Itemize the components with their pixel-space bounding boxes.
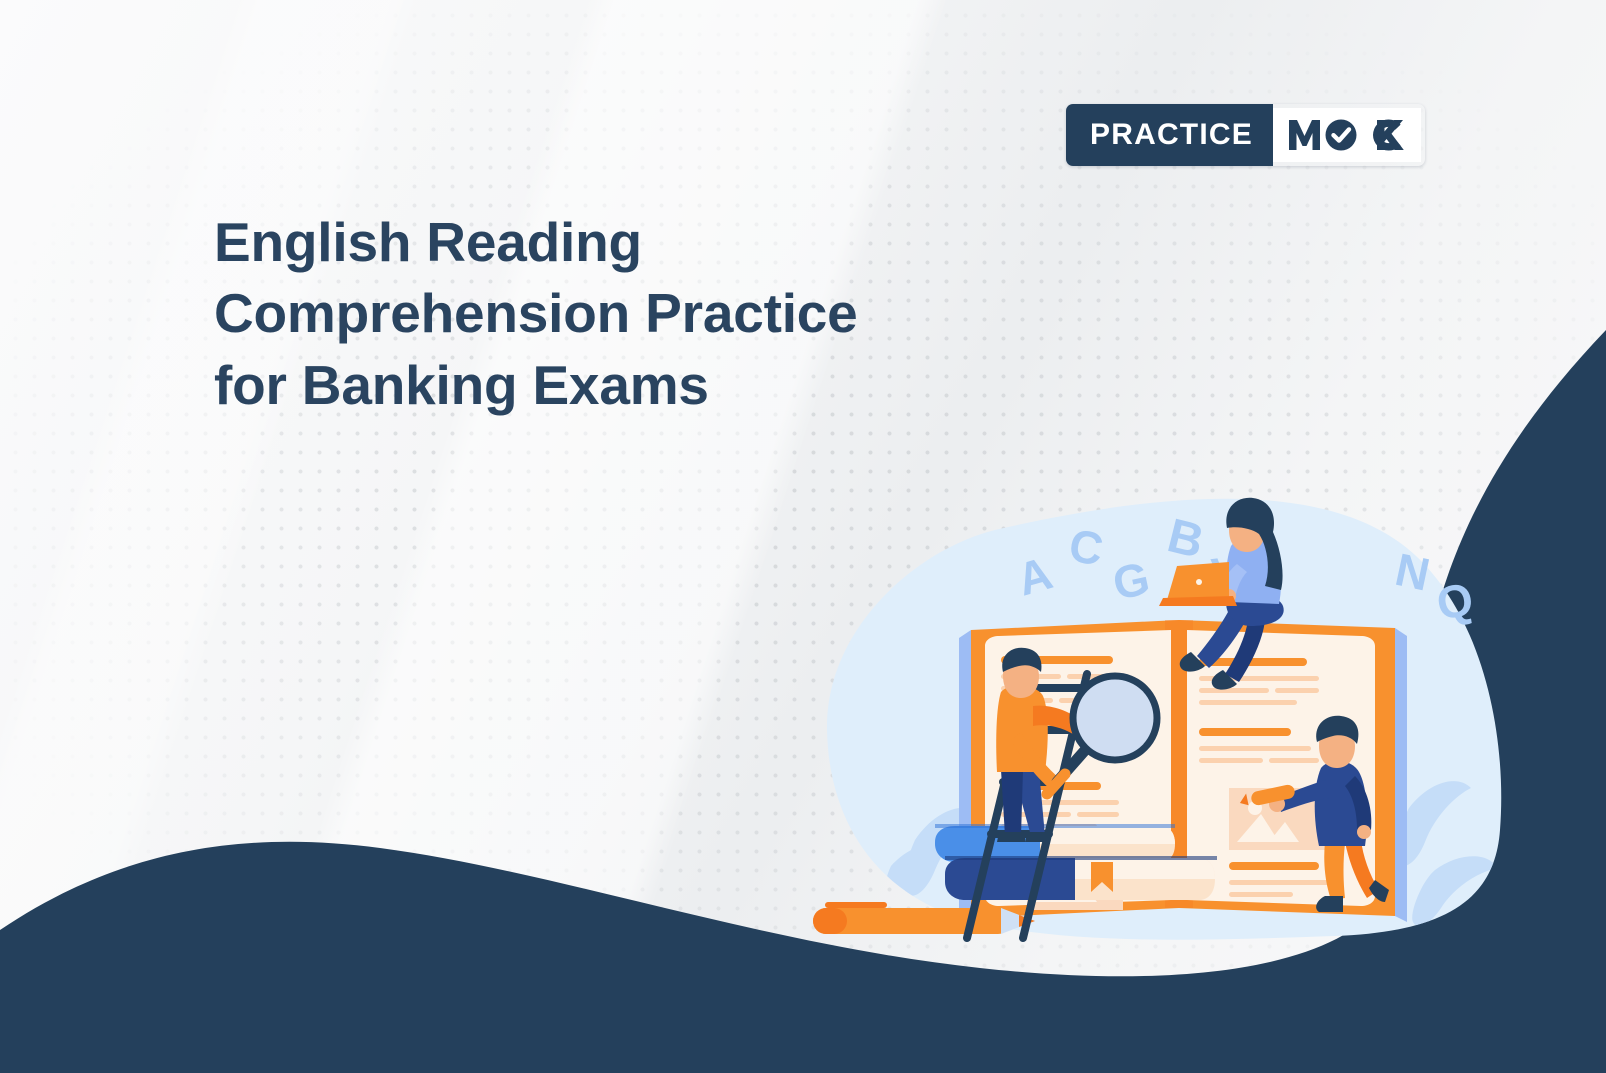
logo-practice-text: PRACTICE: [1066, 104, 1273, 166]
check-in-o-icon: [1325, 120, 1356, 151]
letter-Q: Q: [1433, 572, 1477, 629]
mock-wordmark-icon: [1287, 118, 1405, 152]
logo-mock-text: [1273, 108, 1421, 162]
page-title: English Reading Comprehension Practice f…: [214, 207, 914, 422]
practicemock-logo[interactable]: PRACTICE: [1066, 104, 1425, 166]
promo-banner: PRACTICE English Reading Comprehen: [0, 0, 1606, 1073]
reading-comprehension-illustration: A C G B W N Q: [795, 470, 1606, 970]
